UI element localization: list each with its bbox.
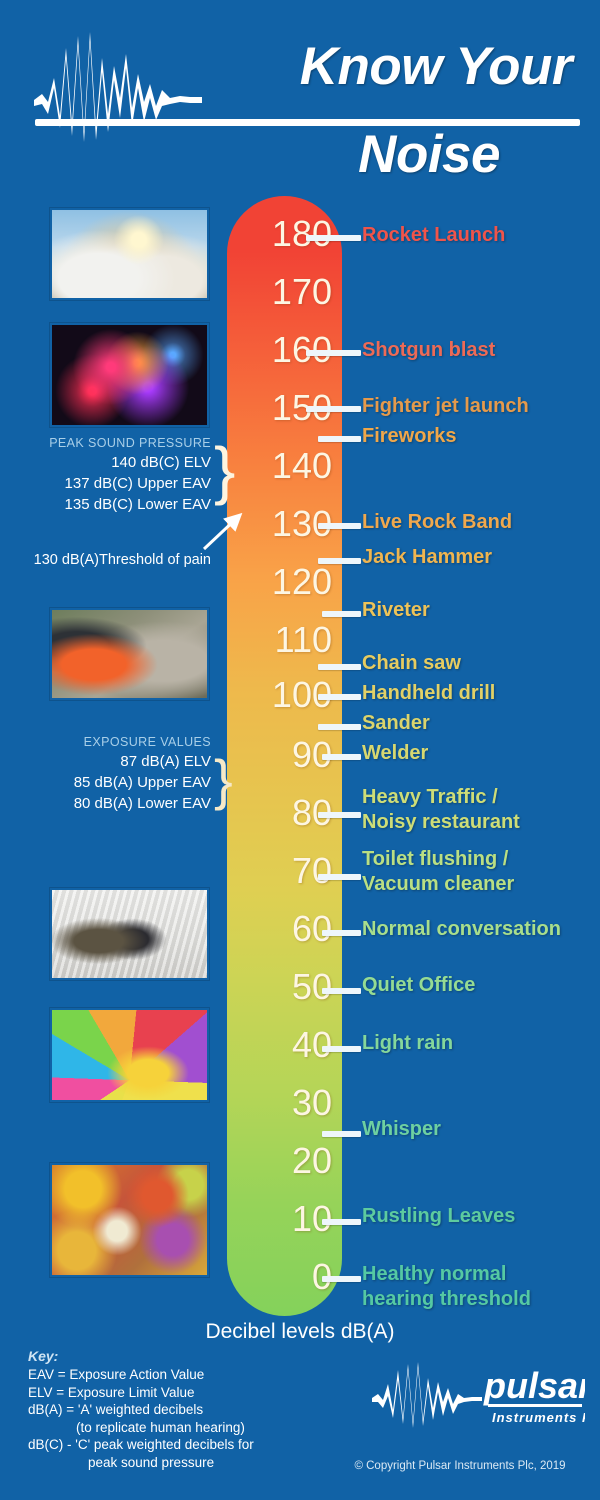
- exposure-block-heading: EXPOSURE VALUES: [6, 735, 211, 749]
- scale-tick-100: 100: [227, 677, 332, 713]
- leader-line: [306, 406, 361, 412]
- leader-line: [318, 812, 361, 818]
- scale-tick-90: 90: [227, 737, 332, 773]
- leader-line: [322, 988, 361, 994]
- leader-line: [306, 350, 361, 356]
- copyright-text: © Copyright Pulsar Instruments Plc, 2019: [330, 1460, 590, 1472]
- label-jack-hammer: Jack Hammer: [362, 547, 492, 567]
- leader-line: [318, 724, 361, 730]
- scale-tick-180: 180: [227, 216, 332, 252]
- label-riveter: Riveter: [362, 600, 430, 620]
- leader-line: [306, 235, 361, 241]
- header: Know Your Noise: [0, 0, 600, 196]
- key-legend: Key: EAV = Exposure Action Value ELV = E…: [28, 1348, 328, 1471]
- leader-line: [318, 874, 361, 880]
- photo-rain-umbrella: [50, 1008, 209, 1102]
- key-line-dba: dB(A) = 'A' weighted decibels: [28, 1401, 328, 1419]
- label-fireworks: Fireworks: [362, 426, 456, 446]
- key-line-dbc-note: peak sound pressure: [28, 1454, 328, 1472]
- peak-row-upper-eav: 137 dB(C) Upper EAV: [6, 473, 211, 494]
- peak-row-lower-eav: 135 dB(C) Lower EAV: [6, 494, 211, 515]
- label-heavy-traffic: Heavy Traffic / Noisy restaurant: [362, 785, 520, 835]
- key-line-dba-note: (to replicate human hearing): [28, 1419, 328, 1437]
- pulsar-logo: pulsar Instruments Plc: [370, 1358, 585, 1430]
- exposure-row-upper-eav: 85 dB(A) Upper EAV: [6, 772, 211, 793]
- key-line-elv: ELV = Exposure Limit Value: [28, 1384, 328, 1402]
- scale-tick-80: 80: [227, 795, 332, 831]
- threshold-pointer-arrow: [200, 505, 250, 555]
- page-title-line2: Noise: [200, 128, 500, 181]
- exposure-row-lower-eav: 80 dB(A) Lower EAV: [6, 793, 211, 814]
- leader-line: [318, 694, 361, 700]
- label-sander: Sander: [362, 713, 430, 733]
- label-light-rain: Light rain: [362, 1033, 453, 1053]
- scale-tick-20: 20: [227, 1143, 332, 1179]
- scale-tick-140: 140: [227, 448, 332, 484]
- photo-rocket-launch: [50, 208, 209, 300]
- photo-chainsaw-worker: [50, 608, 209, 700]
- leader-line: [322, 754, 361, 760]
- axis-label: Decibel levels dB(A): [150, 1320, 450, 1344]
- label-quiet-office: Quiet Office: [362, 975, 475, 995]
- key-title: Key:: [28, 1348, 328, 1364]
- infographic-root: Know Your Noise 180 170 160 150 140 130 …: [0, 0, 600, 1500]
- leader-line: [318, 558, 361, 564]
- scale-tick-0: 0: [227, 1259, 332, 1295]
- label-live-rock-band: Live Rock Band: [362, 512, 512, 532]
- label-healthy-threshold: Healthy normal hearing threshold: [362, 1262, 531, 1312]
- scale-tick-120: 120: [227, 564, 332, 600]
- leader-line: [318, 436, 361, 442]
- scale-tick-50: 50: [227, 969, 332, 1005]
- label-chain-saw: Chain saw: [362, 653, 461, 673]
- pulsar-wordmark: pulsar: [483, 1365, 585, 1406]
- scale-tick-170: 170: [227, 274, 332, 310]
- label-handheld-drill: Handheld drill: [362, 683, 495, 703]
- scale-tick-110: 110: [227, 622, 332, 658]
- leader-line: [318, 664, 361, 670]
- peak-row-elv: 140 dB(C) ELV: [6, 452, 211, 473]
- photo-autumn-leaves: [50, 1163, 209, 1277]
- leader-line: [322, 1276, 361, 1282]
- label-fighter-jet-launch: Fighter jet launch: [362, 396, 529, 416]
- scale-tick-60: 60: [227, 911, 332, 947]
- scale-tick-40: 40: [227, 1027, 332, 1063]
- key-line-eav: EAV = Exposure Action Value: [28, 1366, 328, 1384]
- photo-conversation: [50, 888, 209, 980]
- exposure-row-elv: 87 dB(A) ELV: [6, 751, 211, 772]
- leader-line: [318, 523, 361, 529]
- peak-sound-pressure-block: PEAK SOUND PRESSURE 140 dB(C) ELV 137 dB…: [6, 436, 211, 515]
- photo-fireworks: [50, 323, 209, 427]
- peak-brace: }: [214, 438, 235, 502]
- scale-tick-30: 30: [227, 1085, 332, 1121]
- title-block: Know Your Noise: [200, 24, 580, 184]
- key-line-dbc: dB(C) - 'C' peak weighted decibels for: [28, 1436, 328, 1454]
- scale-tick-70: 70: [227, 853, 332, 889]
- exposure-values-block: EXPOSURE VALUES 87 dB(A) ELV 85 dB(A) Up…: [6, 735, 211, 814]
- leader-line: [322, 1131, 361, 1137]
- label-whisper: Whisper: [362, 1119, 441, 1139]
- pulsar-subtitle: Instruments Plc: [492, 1410, 585, 1425]
- page-title-line1: Know Your: [200, 40, 572, 93]
- label-welder: Welder: [362, 743, 428, 763]
- threshold-of-pain-note: 130 dB(A)Threshold of pain: [6, 551, 211, 569]
- leader-line: [322, 1219, 361, 1225]
- label-rustling-leaves: Rustling Leaves: [362, 1206, 515, 1226]
- label-normal-conversation: Normal conversation: [362, 919, 561, 939]
- leader-line: [322, 1046, 361, 1052]
- leader-line: [322, 611, 361, 617]
- exposure-brace: }: [214, 752, 233, 808]
- leader-line: [322, 930, 361, 936]
- scale-tick-10: 10: [227, 1201, 332, 1237]
- label-rocket-launch: Rocket Launch: [362, 225, 505, 245]
- label-shotgun-blast: Shotgun blast: [362, 340, 495, 360]
- pulsar-wave-icon: [372, 1362, 482, 1428]
- logo-underline: [488, 1404, 582, 1407]
- peak-block-heading: PEAK SOUND PRESSURE: [6, 436, 211, 450]
- label-toilet-flushing: Toilet flushing / Vacuum cleaner: [362, 847, 514, 897]
